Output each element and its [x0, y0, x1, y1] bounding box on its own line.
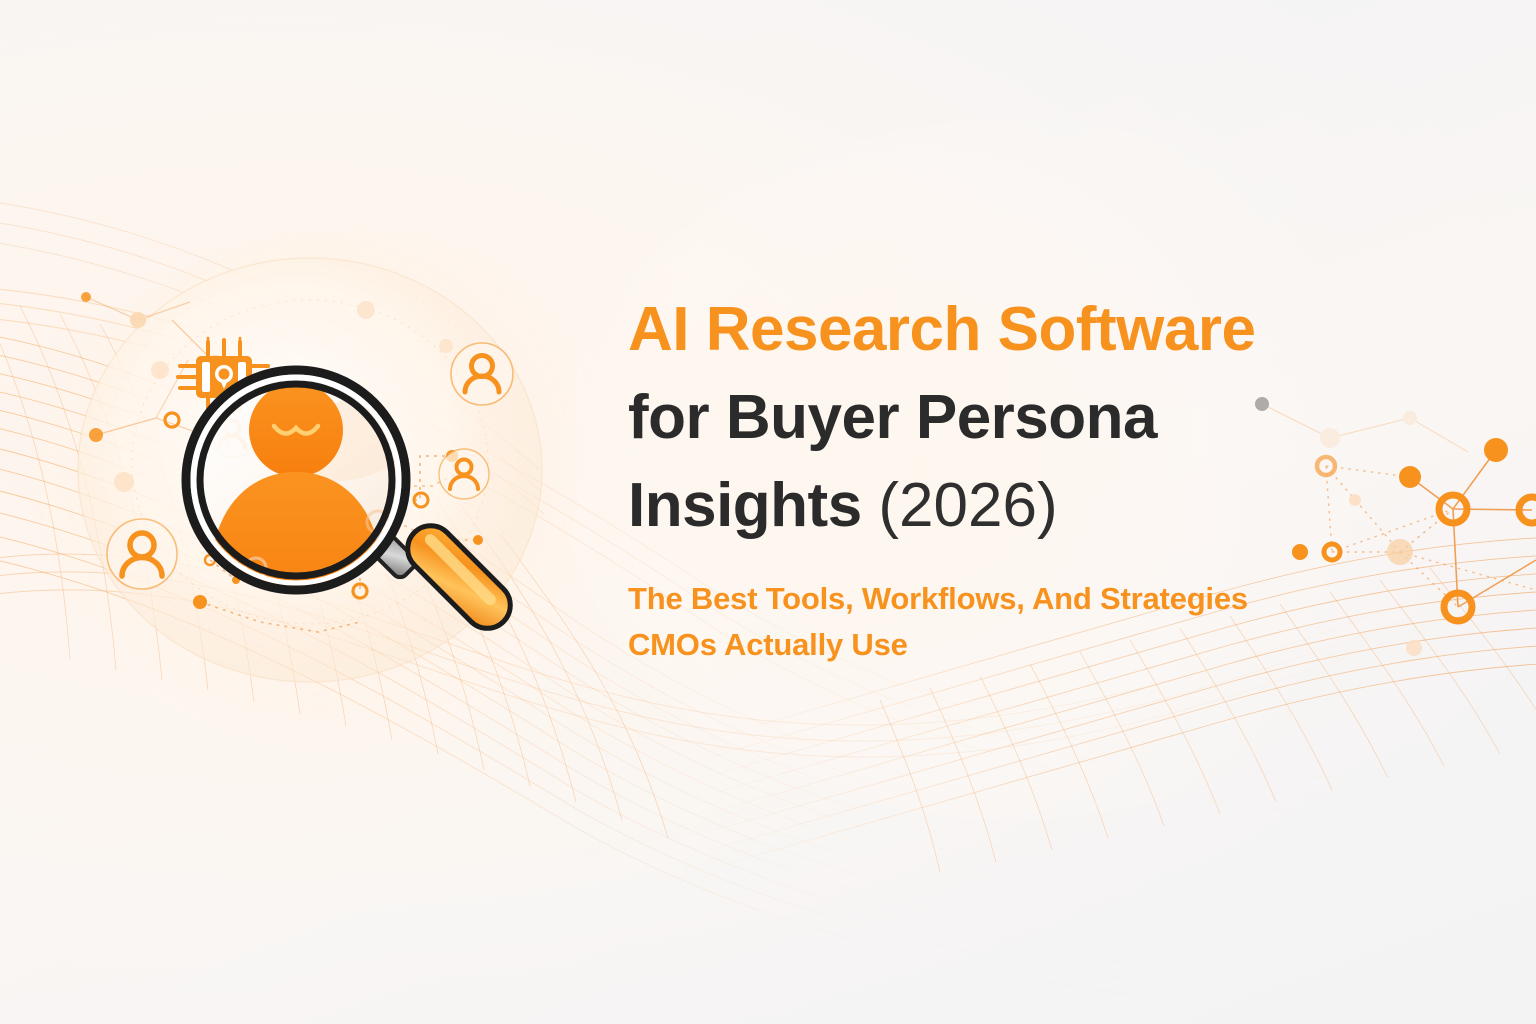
headline-year: (2026) — [878, 471, 1057, 540]
network-node-ring — [1444, 593, 1472, 621]
hero-banner: AI Research Software for Buyer Persona I… — [0, 0, 1536, 1024]
subtitle-line-2: CMOs Actually Use — [628, 622, 1388, 668]
network-node-ring — [1519, 497, 1536, 523]
buyer-persona-illustration — [60, 250, 620, 720]
network-node-filled — [1484, 438, 1508, 462]
avatar-right — [439, 449, 489, 499]
headline-line-2: for Buyer Persona — [628, 374, 1448, 462]
avatar-top-right — [451, 343, 513, 405]
headline-line-1: AI Research Software — [628, 286, 1448, 374]
avatar-bottom-left — [107, 519, 177, 589]
hero-subtitle: The Best Tools, Workflows, And Strategie… — [628, 576, 1388, 668]
hero-text-block: AI Research Software for Buyer Persona I… — [628, 286, 1448, 668]
headline-line-3: Insights (2026) — [628, 462, 1448, 550]
subtitle-line-1: The Best Tools, Workflows, And Strategie… — [628, 576, 1388, 622]
headline-line-3-main: Insights — [628, 471, 878, 540]
